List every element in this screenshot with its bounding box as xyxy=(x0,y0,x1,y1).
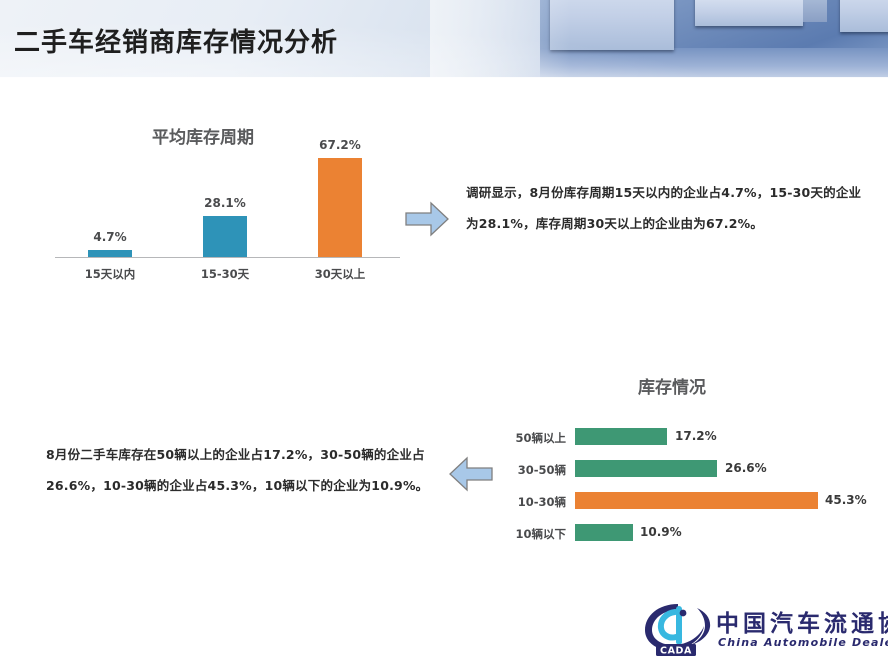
chart2-bar[interactable] xyxy=(575,428,667,445)
cada-logo: CADA 中国汽车流通协会 China Automobile Dealers A… xyxy=(642,598,888,660)
chart1-bar-value: 4.7% xyxy=(55,230,165,244)
commentary-inventory-volume: 8月份二手车库存在50辆以上的企业占17.2%，30-50辆的企业占26.6%，… xyxy=(46,440,434,501)
chart1-bar[interactable] xyxy=(203,216,247,257)
chart1-bar-group: 67.2% xyxy=(285,157,395,257)
arrow-right-icon xyxy=(404,200,450,238)
chart2-bar[interactable] xyxy=(575,492,818,509)
chart2-bar-row: 10辆以下 10.9% xyxy=(470,521,880,547)
header-decor-cubes-icon xyxy=(540,0,888,78)
commentary-inventory-cycle: 调研显示，8月份库存周期15天以内的企业占4.7%，15-30天的企业为28.1… xyxy=(466,178,866,239)
chart1-bar[interactable] xyxy=(318,158,362,257)
chart2-bar-value: 17.2% xyxy=(675,429,717,443)
chart1-category-label: 15-30天 xyxy=(170,266,280,282)
chart1-title: 平均库存周期 xyxy=(152,123,254,148)
page-title: 二手车经销商库存情况分析 xyxy=(14,22,338,59)
chart2-bar-value: 10.9% xyxy=(640,525,682,539)
chart2-category-label: 30-50辆 xyxy=(470,462,566,478)
chart2-category-label: 50辆以上 xyxy=(470,430,566,446)
chart2-bar[interactable] xyxy=(575,524,633,541)
chart1-category-label: 15天以内 xyxy=(55,266,165,282)
chart2-bar[interactable] xyxy=(575,460,717,477)
chart-average-inventory-cycle: 平均库存周期 4.7% 28.1% 67.2% 15天以内 15-30天 30天… xyxy=(40,120,400,290)
chart2-bar-row: 10-30辆 45.3% xyxy=(470,489,880,515)
chart2-bar-row: 30-50辆 26.6% xyxy=(470,457,880,483)
chart2-bar-row: 50辆以上 17.2% xyxy=(470,425,880,451)
header-gradient-fade xyxy=(430,0,570,78)
chart2-category-label: 10-30辆 xyxy=(470,494,566,510)
chart2-bar-value: 45.3% xyxy=(825,493,867,507)
chart1-baseline xyxy=(55,257,400,258)
header-divider xyxy=(0,77,888,78)
chart1-bar-group: 4.7% xyxy=(55,157,165,257)
chart1-bar-value: 67.2% xyxy=(285,138,395,152)
chart1-plot-area: 4.7% 28.1% 67.2% xyxy=(55,158,400,258)
chart2-title: 库存情况 xyxy=(638,373,706,398)
logo-chinese-name: 中国汽车流通协会 xyxy=(716,604,888,638)
chart2-category-label: 10辆以下 xyxy=(470,526,566,542)
chart1-bar-value: 28.1% xyxy=(170,196,280,210)
chart1-bar[interactable] xyxy=(88,250,132,257)
chart1-bar-group: 28.1% xyxy=(170,157,280,257)
cada-emblem-icon: CADA xyxy=(642,600,714,658)
chart1-category-label: 30天以上 xyxy=(285,266,395,282)
chart2-bar-value: 26.6% xyxy=(725,461,767,475)
logo-english-name: China Automobile Dealers Association xyxy=(718,636,888,649)
svg-text:CADA: CADA xyxy=(660,645,692,656)
page-header: 二手车经销商库存情况分析 xyxy=(0,0,888,78)
chart-inventory-volume: 库存情况 50辆以上 17.2% 30-50辆 26.6% 10-30辆 45.… xyxy=(470,370,880,555)
